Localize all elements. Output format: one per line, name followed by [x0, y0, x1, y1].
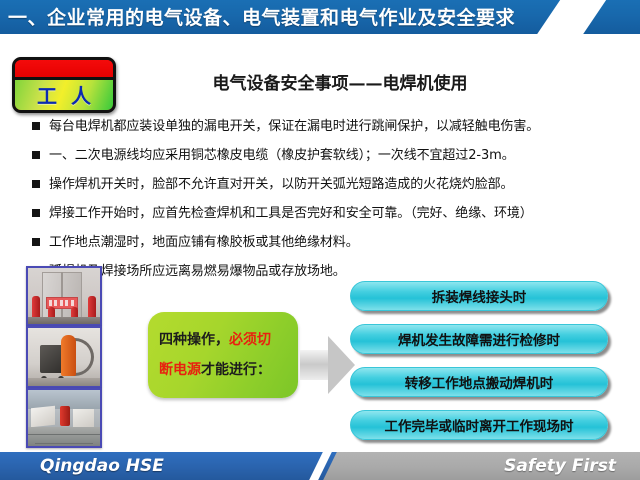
photo-content — [28, 268, 100, 324]
condition-pill-2: 焊机发生故障需进行检修时 — [350, 324, 608, 354]
list-item: 每台电焊机都应装设单独的漏电开关，保证在漏电时进行跳闸保护，以减轻触电伤害。 — [32, 114, 632, 140]
square-bullet-icon — [32, 238, 40, 246]
condition-pill-label: 焊机发生故障需进行检修时 — [398, 329, 560, 349]
list-item: 工作地点潮湿时，地面应铺有橡胶板或其他绝缘材料。 — [32, 230, 632, 256]
page-title: 一、企业常用的电气设备、电气装置和电气作业及安全要求 — [8, 2, 515, 34]
badge-red-stripe — [15, 60, 113, 78]
condition-pill-label: 拆装焊线接头时 — [432, 286, 527, 306]
callout-text-plain: 四种操作， — [159, 332, 229, 348]
callout-line-2: 断电源才能进行： — [159, 355, 287, 385]
condition-pill-1: 拆装焊线接头时 — [350, 281, 608, 311]
callout-text-highlight: 断电源 — [159, 362, 201, 378]
condition-pill-label: 工作完毕或临时离开工作现场时 — [385, 415, 574, 435]
square-bullet-icon — [32, 180, 40, 188]
arrow-tail — [300, 350, 330, 380]
list-item-text: 每台电焊机都应装设单独的漏电开关，保证在漏电时进行跳闸保护，以减轻触电伤害。 — [49, 114, 539, 140]
callout-text-highlight: 必须切 — [229, 332, 271, 348]
slide-footer: Qingdao HSE Safety First — [0, 452, 640, 480]
bullet-list: 每台电焊机都应装设单独的漏电开关，保证在漏电时进行跳闸保护，以减轻触电伤害。 一… — [32, 114, 632, 288]
slide-header: 一、企业常用的电气设备、电气装置和电气作业及安全要求 — [0, 0, 640, 36]
condition-pill-label: 转移工作地点搬动焊机时 — [405, 372, 554, 392]
photo-welder-cylinder — [26, 326, 102, 388]
slide-root: 一、企业常用的电气设备、电气装置和电气作业及安全要求 工 人 电气设备安全事项—… — [0, 0, 640, 480]
square-bullet-icon — [32, 122, 40, 130]
condition-pill-3: 转移工作地点搬动焊机时 — [350, 367, 608, 397]
list-item-text: 焊接工作开始时，应首先检查焊机和工具是否完好和安全可靠。（完好、绝缘、环境） — [49, 201, 533, 227]
list-item-text: 一、二次电源线均应采用铜芯橡皮电缆（橡皮护套软线）；一次线不宜超过2-3m。 — [49, 143, 515, 169]
condition-pill-4: 工作完毕或临时离开工作现场时 — [350, 410, 608, 440]
right-arrow-icon — [300, 336, 356, 394]
list-item-text: 工作地点潮湿时，地面应铺有橡胶板或其他绝缘材料。 — [49, 230, 359, 256]
list-item: 一、二次电源线均应采用铜芯橡皮电缆（橡皮护套软线）；一次线不宜超过2-3m。 — [32, 143, 632, 169]
footer-brand: Qingdao HSE — [40, 452, 164, 480]
photo-welding-machine — [26, 266, 102, 326]
photo-content — [28, 390, 100, 446]
list-item: 操作焊机开关时，脸部不允许直对开关，以防开关弧光短路造成的火花烧灼脸部。 — [32, 172, 632, 198]
callout-text-plain: 才能进行： — [201, 362, 271, 378]
square-bullet-icon — [32, 151, 40, 159]
photo-content — [28, 328, 100, 386]
badge-label: 工 人 — [15, 78, 113, 110]
list-item-text: 操作焊机开关时，脸部不允许直对开关，以防开关弧光短路造成的火花烧灼脸部。 — [49, 172, 513, 198]
worker-badge: 工 人 — [12, 57, 116, 113]
photo-worksite — [26, 388, 102, 448]
badge-char-1: 工 — [37, 80, 57, 109]
callout-box: 四种操作，必须切 断电源才能进行： — [148, 312, 298, 398]
callout-line-1: 四种操作，必须切 — [159, 325, 287, 355]
section-title: 电气设备安全事项——电焊机使用 — [130, 64, 550, 98]
badge-char-2: 人 — [71, 80, 91, 109]
square-bullet-icon — [32, 209, 40, 217]
header-underline — [0, 34, 640, 36]
list-item: 焊接工作开始时，应首先检查焊机和工具是否完好和安全可靠。（完好、绝缘、环境） — [32, 201, 632, 227]
footer-slogan: Safety First — [504, 452, 616, 480]
